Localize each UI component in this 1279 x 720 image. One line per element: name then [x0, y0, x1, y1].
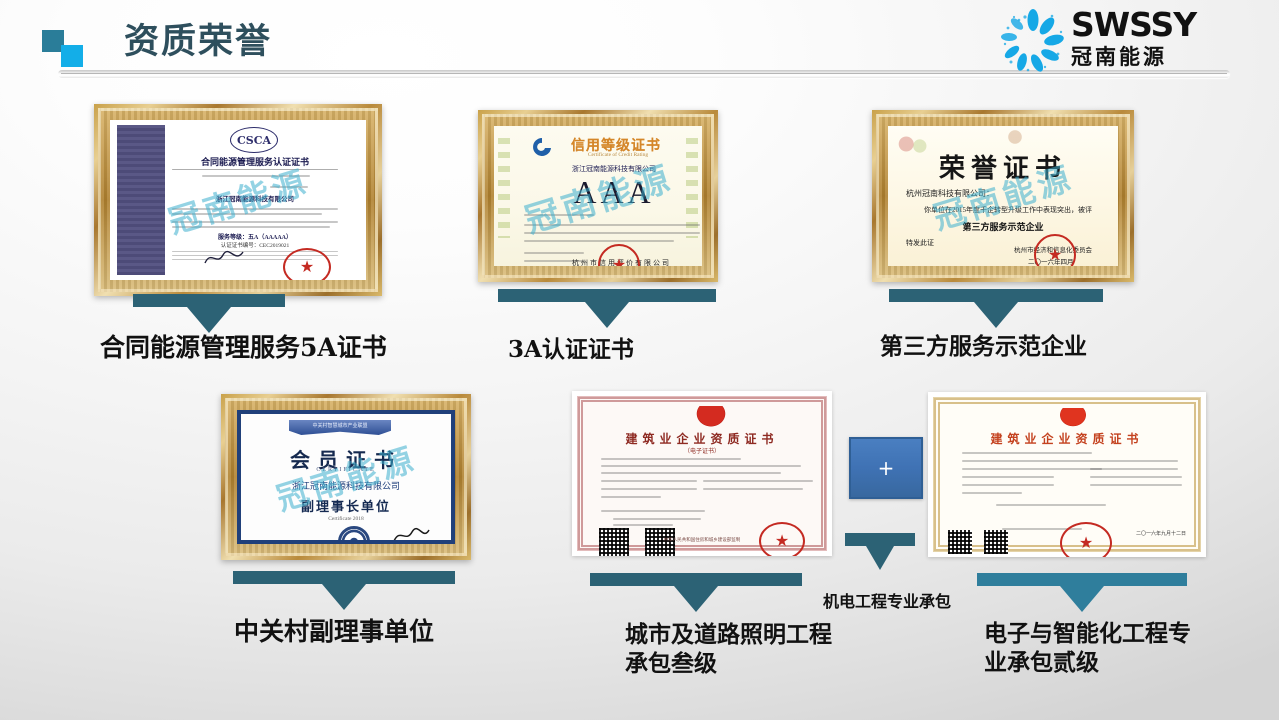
certificate-ribbon-text: 中关村智慧城市产业联盟 [289, 422, 391, 429]
caption-certificate-honor: 第三方服务示范企业 [880, 333, 1160, 362]
credit-rating-logo-icon [530, 136, 554, 158]
certificate-body: 你单位在2015年度千企转型升级工作中表现突出，被评 [924, 205, 1118, 215]
certificate-grade: AAA [534, 174, 694, 211]
plus-icon: + [878, 459, 895, 477]
arrow-tip [674, 586, 718, 612]
certificate-body-line [524, 232, 700, 234]
arrow-certificate-membership [233, 571, 455, 610]
national-emblem-icon [695, 406, 727, 428]
certificate-company: 浙江冠南能源科技有限公司 [534, 164, 694, 174]
arrow-certificate-aaa [498, 289, 716, 328]
certificate-body-line [172, 226, 330, 228]
certificate-title: 建筑业企业资质证书 [940, 430, 1194, 447]
company-logo: SWSSY 冠南能源 [999, 6, 1259, 78]
certificate-award: 第三方服务示范企业 [888, 220, 1118, 233]
floral-ornament-icon [980, 130, 1050, 144]
arrow-tip [974, 302, 1018, 328]
certificate-5a[interactable]: CSCA 合同能源管理服务认证证书 浙江冠南能源科技有限公司 服务等级：五A（A… [94, 104, 382, 296]
arrow-tip [585, 302, 629, 328]
certificate-frame-bevel: 荣誉证书 杭州冠南科技有限公司： 你单位在2015年度千企转型升级工作中表现突出… [876, 114, 1130, 278]
floral-ornament-icon [498, 138, 510, 238]
header-square-bright-icon [61, 45, 83, 67]
certificate-rule [172, 169, 338, 170]
certificate-note: 特发此证 [906, 238, 934, 248]
certificate-code-line [270, 186, 308, 188]
certificate-frame-bevel: 中关村智慧城市产业联盟 会员证书 CERTIFICATE 浙江冠南能源科技有限公… [225, 398, 467, 556]
certificate-red-seal-icon: ★ [1060, 522, 1112, 557]
certificate-paper: CSCA 合同能源管理服务认证证书 浙江冠南能源科技有限公司 服务等级：五A（A… [110, 120, 366, 280]
page-title: 资质荣誉 [124, 20, 272, 64]
certificate-medal-icon [338, 526, 370, 544]
logo-text-cn: 冠南能源 [1071, 44, 1257, 70]
certificate-body-line [524, 240, 674, 242]
certificate-paper: 中关村智慧城市产业联盟 会员证书 CERTIFICATE 浙江冠南能源科技有限公… [237, 410, 455, 544]
certificate-body-line [524, 252, 584, 254]
certificate-red-seal-icon: ★ [1034, 234, 1076, 266]
certificate-body-line [524, 214, 594, 216]
certificate-title: 合同能源管理服务认证证书 [170, 155, 340, 168]
certificate-title-en: Certificate of Credit Rating [556, 152, 680, 158]
arrow-tip [866, 546, 894, 570]
certificate-body-line [172, 208, 338, 210]
water-droplet-burst-icon [999, 8, 1067, 76]
certificate-body-line [172, 213, 322, 215]
certificate-signature [203, 248, 245, 268]
caption-certificate-membership: 中关村副理事单位 [234, 616, 534, 647]
certificate-title-en: CERTIFICATE [241, 467, 451, 473]
caption-middle-scope: 机电工程专业承包 [823, 592, 1003, 612]
certificate-construction-b[interactable]: 建筑业企业资质证书 ★ 二〇一六年九月十二日 [928, 392, 1206, 557]
certificate-honor[interactable]: 荣誉证书 杭州冠南科技有限公司： 你单位在2015年度千企转型升级工作中表现突出… [872, 110, 1134, 282]
arrow-tip [322, 584, 366, 610]
csca-emblem-text: CSCA [237, 134, 271, 147]
arrow-bar [590, 573, 802, 586]
certificate-body-line [524, 224, 700, 226]
certificate-title: 建筑业企业资质证书 [583, 430, 821, 447]
arrow-certificate-honor [889, 289, 1103, 328]
certificate-paper: 建筑业企业资质证书 （电子证书） ★ 中华人民共和国住房和城乡建设部监制 [578, 397, 826, 550]
certificate-subtitle-line [202, 175, 310, 177]
arrow-bar [889, 289, 1103, 302]
arrow-tip [187, 307, 231, 333]
certificate-company: 浙江冠南能源科技有限公司 [241, 479, 451, 492]
caption-certificate-construction-a: 城市及道路照明工程承包叁级 [625, 621, 835, 679]
arrow-certificate-construction-a [590, 573, 802, 612]
arrow-bar [498, 289, 716, 302]
arrow-bar [977, 573, 1187, 586]
certificate-company: 浙江冠南能源科技有限公司 [172, 193, 338, 203]
add-certificate-button[interactable]: + [849, 437, 923, 499]
certificate-title: 荣誉证书 [888, 148, 1118, 185]
logo-text-en: SWSSY [1071, 8, 1257, 42]
certificate-qr-code [948, 530, 972, 554]
arrow-middle-scope [845, 533, 915, 570]
arrow-tip [1060, 586, 1104, 612]
certificate-title-sub: （电子证书） [583, 446, 821, 455]
certificate-footer: 中华人民共和国住房和城乡建设部监制 [583, 537, 821, 543]
certificate-date: 二〇一六年九月十二日 [1136, 530, 1186, 537]
certificate-role: 副理事长单位 [241, 496, 451, 515]
certificate-level: 服务等级：五A（AAAAA） [172, 232, 338, 241]
certificate-qr-code [984, 530, 1008, 554]
certificate-side-band [117, 125, 165, 275]
caption-certificate-aaa: 3A认证证书 [508, 336, 768, 365]
certificate-frame-bevel: 信用等级证书 Certificate of Credit Rating 浙江冠南… [482, 114, 714, 278]
certificate-membership[interactable]: 中关村智慧城市产业联盟 会员证书 CERTIFICATE 浙江冠南能源科技有限公… [221, 394, 471, 560]
certificate-validity: Certificate 2018 [241, 516, 451, 522]
certificate-aaa[interactable]: 信用等级证书 Certificate of Credit Rating 浙江冠南… [478, 110, 718, 282]
certificate-body-line [172, 221, 338, 223]
logo-wordmark: SWSSY 冠南能源 [1071, 8, 1257, 70]
slide-canvas: 资质荣誉 [0, 0, 1279, 720]
certificate-red-seal-icon: ★ [598, 244, 640, 266]
csca-emblem-icon: CSCA [230, 127, 278, 153]
slide-header: 资质荣誉 [0, 0, 1279, 92]
certificate-signature [391, 524, 431, 544]
arrow-certificate-construction-b [977, 573, 1187, 612]
arrow-certificate-5a [133, 294, 285, 333]
certificate-paper: 荣誉证书 杭州冠南科技有限公司： 你单位在2015年度千企转型升级工作中表现突出… [888, 126, 1118, 266]
certificate-paper: 信用等级证书 Certificate of Credit Rating 浙江冠南… [494, 126, 702, 266]
certificate-construction-a[interactable]: 建筑业企业资质证书 （电子证书） ★ 中华人民共和国住房和城乡建设部监制 [572, 391, 832, 556]
certificate-company: 杭州冠南科技有限公司： [906, 188, 994, 199]
arrow-bar [233, 571, 455, 584]
certificate-red-seal-icon: ★ [283, 248, 331, 280]
national-emblem-icon [1058, 408, 1088, 428]
certificate-paper: 建筑业企业资质证书 ★ 二〇一六年九月十二日 [934, 398, 1200, 551]
caption-certificate-construction-b: 电子与智能化工程专业承包贰级 [984, 620, 1204, 678]
caption-certificate-5a: 合同能源管理服务5A证书 [100, 332, 420, 363]
arrow-bar [133, 294, 285, 307]
certificate-frame-bevel: CSCA 合同能源管理服务认证证书 浙江冠南能源科技有限公司 服务等级：五A（A… [98, 108, 378, 292]
arrow-bar [845, 533, 915, 546]
